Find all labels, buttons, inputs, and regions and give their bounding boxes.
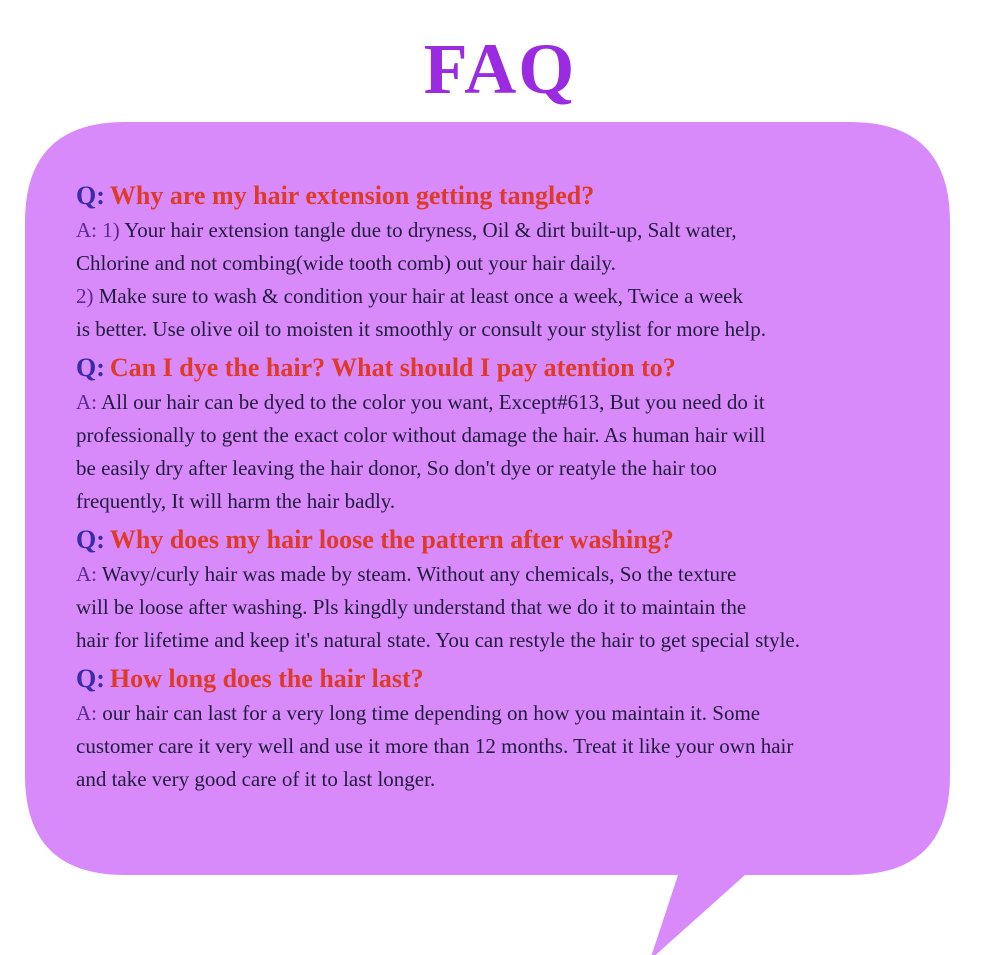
question-text: Why are my hair extension getting tangle… [110, 181, 594, 210]
answer-line-text: hair for lifetime and keep it's natural … [76, 628, 800, 652]
faq-content: Q:Why are my hair extension getting tang… [76, 178, 912, 798]
answer-line-text: frequently, It will harm the hair badly. [76, 489, 395, 513]
answer-line: is better. Use olive oil to moisten it s… [76, 313, 912, 346]
answer-line: professionally to gent the exact color w… [76, 419, 912, 452]
answer-line-text: our hair can last for a very long time d… [102, 701, 760, 725]
faq-answer: A: 1) Your hair extension tangle due to … [76, 214, 912, 346]
answer-line: hair for lifetime and keep it's natural … [76, 624, 912, 657]
question-prefix: Q: [76, 181, 105, 210]
faq-question: Q:Why does my hair loose the pattern aft… [76, 522, 912, 558]
answer-line: and take very good care of it to last lo… [76, 763, 912, 796]
answer-prefix: A: [76, 218, 97, 242]
answer-number-label: 2) [76, 284, 94, 308]
answer-line: frequently, It will harm the hair badly. [76, 485, 912, 518]
answer-line-text: professionally to gent the exact color w… [76, 423, 765, 447]
answer-line: 2) Make sure to wash & condition your ha… [76, 280, 912, 313]
answer-line: A: Wavy/curly hair was made by steam. Wi… [76, 558, 912, 591]
faq-item: Q:Why does my hair loose the pattern aft… [76, 522, 912, 657]
answer-line: A: our hair can last for a very long tim… [76, 697, 912, 730]
answer-line: A: All our hair can be dyed to the color… [76, 386, 912, 419]
answer-line: Chlorine and not combing(wide tooth comb… [76, 247, 912, 280]
answer-line-text: customer care it very well and use it mo… [76, 734, 793, 758]
answer-line-text: will be loose after washing. Pls kingdly… [76, 595, 746, 619]
answer-prefix: A: [76, 390, 97, 414]
answer-line: A: 1) Your hair extension tangle due to … [76, 214, 912, 247]
question-text: How long does the hair last? [110, 664, 424, 693]
answer-line-text: be easily dry after leaving the hair don… [76, 456, 717, 480]
answer-prefix: A: [76, 701, 97, 725]
faq-question: Q:Why are my hair extension getting tang… [76, 178, 912, 214]
answer-line-text: and take very good care of it to last lo… [76, 767, 435, 791]
page-title: FAQ [0, 30, 1000, 108]
answer-line-text: is better. Use olive oil to moisten it s… [76, 317, 766, 341]
faq-item: Q:Can I dye the hair? What should I pay … [76, 350, 912, 518]
faq-item: Q:How long does the hair last? A: our ha… [76, 661, 912, 796]
answer-line-text: Make sure to wash & condition your hair … [99, 284, 743, 308]
question-text: Why does my hair loose the pattern after… [110, 525, 674, 554]
faq-answer: A: All our hair can be dyed to the color… [76, 386, 912, 518]
answer-line: will be loose after washing. Pls kingdly… [76, 591, 912, 624]
answer-line-text: Wavy/curly hair was made by steam. Witho… [102, 562, 736, 586]
faq-item: Q:Why are my hair extension getting tang… [76, 178, 912, 346]
answer-line: customer care it very well and use it mo… [76, 730, 912, 763]
faq-question: Q:How long does the hair last? [76, 661, 912, 697]
answer-prefix: A: [76, 562, 97, 586]
answer-line: be easily dry after leaving the hair don… [76, 452, 912, 485]
faq-page: FAQ Q:Why are my hair extension getting … [0, 0, 1000, 955]
answer-line-text: Your hair extension tangle due to drynes… [124, 218, 736, 242]
question-prefix: Q: [76, 353, 105, 382]
faq-question: Q:Can I dye the hair? What should I pay … [76, 350, 912, 386]
question-text: Can I dye the hair? What should I pay at… [110, 353, 676, 382]
answer-number-label: 1) [102, 218, 120, 242]
faq-answer: A: Wavy/curly hair was made by steam. Wi… [76, 558, 912, 657]
question-prefix: Q: [76, 525, 105, 554]
answer-line-text: Chlorine and not combing(wide tooth comb… [76, 251, 616, 275]
faq-answer: A: our hair can last for a very long tim… [76, 697, 912, 796]
question-prefix: Q: [76, 664, 105, 693]
answer-line-text: All our hair can be dyed to the color yo… [101, 390, 765, 414]
